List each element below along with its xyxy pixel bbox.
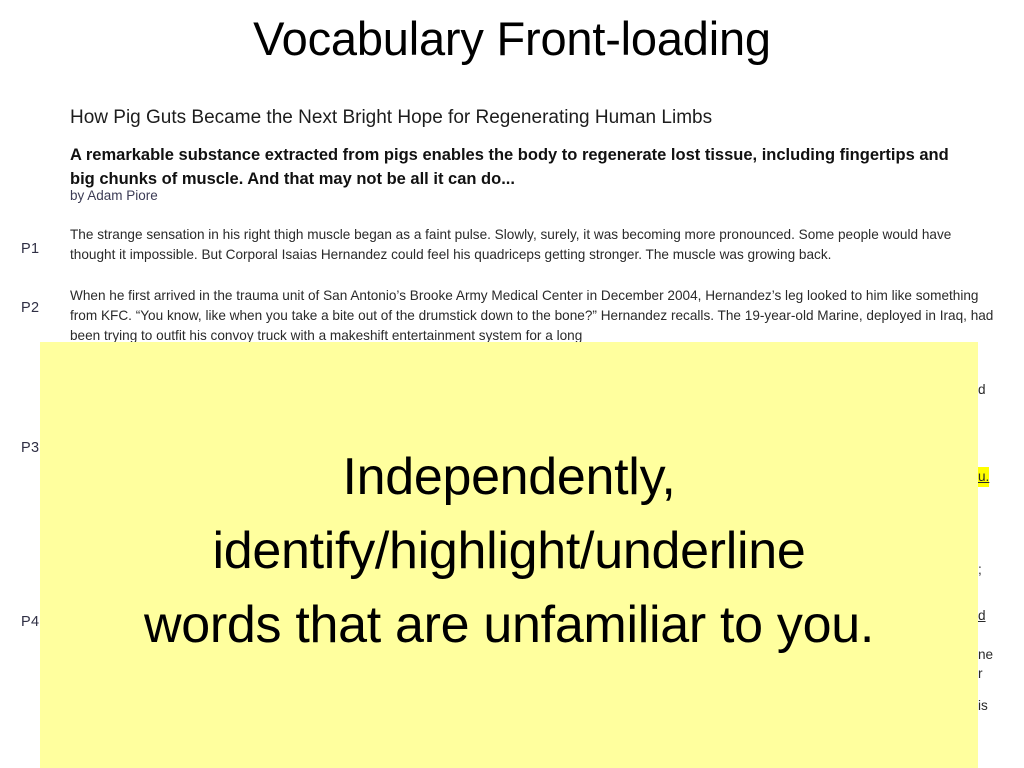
- paragraph-marker-p4: P4: [21, 614, 39, 630]
- article-subhead: A remarkable substance extracted from pi…: [70, 144, 975, 192]
- paragraph-marker-p2: P2: [21, 300, 39, 316]
- article-edge-fragment: ;: [978, 560, 982, 580]
- article-headline: How Pig Guts Became the Next Bright Hope…: [70, 106, 970, 130]
- article-edge-fragment: is: [978, 696, 988, 716]
- slide-canvas: Vocabulary Front-loading How Pig Guts Be…: [0, 0, 1024, 768]
- paragraph-marker-p3: P3: [21, 440, 39, 456]
- article-edge-fragment: d: [978, 380, 986, 400]
- article-paragraph-p1: The strange sensation in his right thigh…: [70, 225, 1000, 265]
- article-edge-fragment: u.: [978, 467, 989, 487]
- paragraph-marker-p1: P1: [21, 241, 39, 257]
- instruction-line-3: words that are unfamiliar to you.: [144, 589, 874, 663]
- instruction-callout: Independently, identify/highlight/underl…: [40, 342, 978, 768]
- article-paragraph-p2: When he first arrived in the trauma unit…: [70, 286, 1000, 346]
- article-byline: by Adam Piore: [70, 188, 158, 203]
- page-title: Vocabulary Front-loading: [0, 12, 1024, 66]
- instruction-line-2: identify/highlight/underline: [213, 515, 806, 589]
- article-edge-fragment: d: [978, 606, 986, 626]
- article-edge-fragment: r: [978, 664, 983, 684]
- instruction-line-1: Independently,: [342, 441, 675, 515]
- article-edge-fragment: ne: [978, 645, 993, 665]
